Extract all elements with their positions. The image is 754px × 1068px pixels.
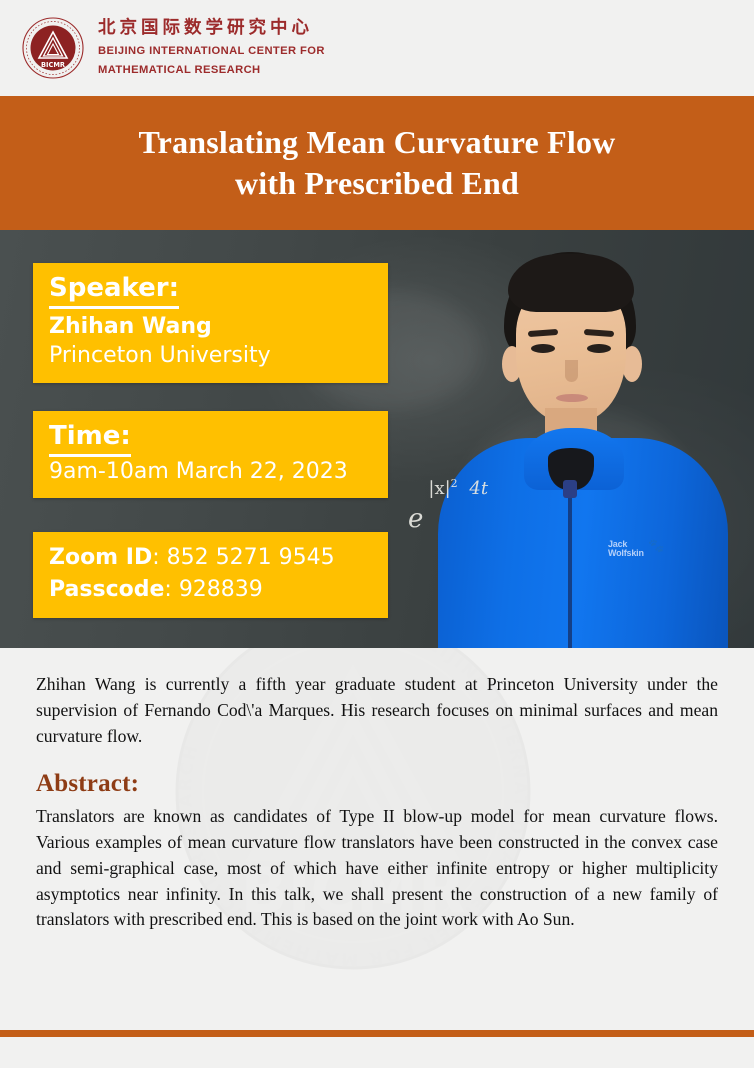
formula-fraction: |x|2 4t — [425, 478, 491, 499]
speaker-info-box: Speaker: Zhihan Wang Princeton Universit… — [33, 263, 388, 383]
zoom-info-box: Zoom ID: 852 5271 9545 Passcode: 928839 — [33, 532, 388, 618]
speaker-label: Speaker: — [49, 273, 179, 309]
zoom-id-label: Zoom ID — [49, 545, 152, 570]
formula-denominator: 4t — [466, 478, 491, 499]
time-label: Time: — [49, 421, 131, 457]
speaker-photo: Jack Wolfskin 🐾 — [432, 242, 732, 648]
photo-eye-left — [531, 344, 555, 353]
footer-strip — [0, 1037, 754, 1068]
photo-nose — [565, 360, 578, 382]
zoom-passcode-label: Passcode — [49, 577, 164, 602]
zoom-id-separator: : — [152, 545, 166, 570]
zoom-id-row: Zoom ID: 852 5271 9545 — [49, 542, 372, 574]
photo-zipper-pull — [563, 480, 577, 498]
poster-body: BICMR BEIJING INTERNATIONAL CENTER FOR M… — [0, 648, 754, 1030]
bicmr-logo-icon: BICMR — [22, 17, 84, 79]
formula-base: e — [408, 504, 423, 534]
zoom-passcode-separator: : — [164, 577, 178, 602]
formula-numerator: |x|2 — [425, 478, 460, 499]
zoom-passcode-row: Passcode: 928839 — [49, 574, 372, 606]
photo-jacket-zipper — [568, 482, 572, 648]
photo-eye-right — [587, 344, 611, 353]
org-name-chinese: 北京国际数学研究中心 — [98, 18, 325, 40]
photo-info-band: Jack Wolfskin 🐾 e |x|2 4t Speaker: Zhiha… — [0, 230, 754, 648]
time-info-box: Time: 9am-10am March 22, 2023 — [33, 411, 388, 498]
seminar-poster: BICMR 北京国际数学研究中心 BEIJING INTERNATIONAL C… — [0, 0, 754, 1068]
poster-header: BICMR 北京国际数学研究中心 BEIJING INTERNATIONAL C… — [0, 0, 754, 96]
time-value: 9am-10am March 22, 2023 — [49, 457, 372, 486]
org-name-english-line2: MATHEMATICAL RESEARCH — [98, 62, 325, 78]
abstract-text: Translators are known as candidates of T… — [36, 804, 718, 933]
speaker-affiliation: Princeton University — [49, 341, 372, 370]
org-name-block: 北京国际数学研究中心 BEIJING INTERNATIONAL CENTER … — [98, 18, 325, 78]
title-banner: Translating Mean Curvature Flow with Pre… — [0, 96, 754, 230]
footer-rule — [0, 1030, 754, 1037]
paw-print-icon: 🐾 — [648, 538, 664, 552]
zoom-id-value: 852 5271 9545 — [167, 545, 335, 570]
speaker-name: Zhihan Wang — [49, 312, 372, 341]
abstract-heading: Abstract: — [36, 770, 139, 798]
speaker-bio: Zhihan Wang is currently a fifth year gr… — [36, 672, 718, 750]
zoom-passcode-value: 928839 — [179, 577, 263, 602]
org-name-english-line1: BEIJING INTERNATIONAL CENTER FOR — [98, 43, 325, 59]
chalkboard-formula: e |x|2 4t — [408, 478, 491, 508]
photo-fringe — [508, 254, 634, 312]
talk-title: Translating Mean Curvature Flow with Pre… — [139, 122, 616, 204]
photo-mouth — [556, 394, 588, 402]
svg-text:BICMR: BICMR — [41, 61, 65, 69]
